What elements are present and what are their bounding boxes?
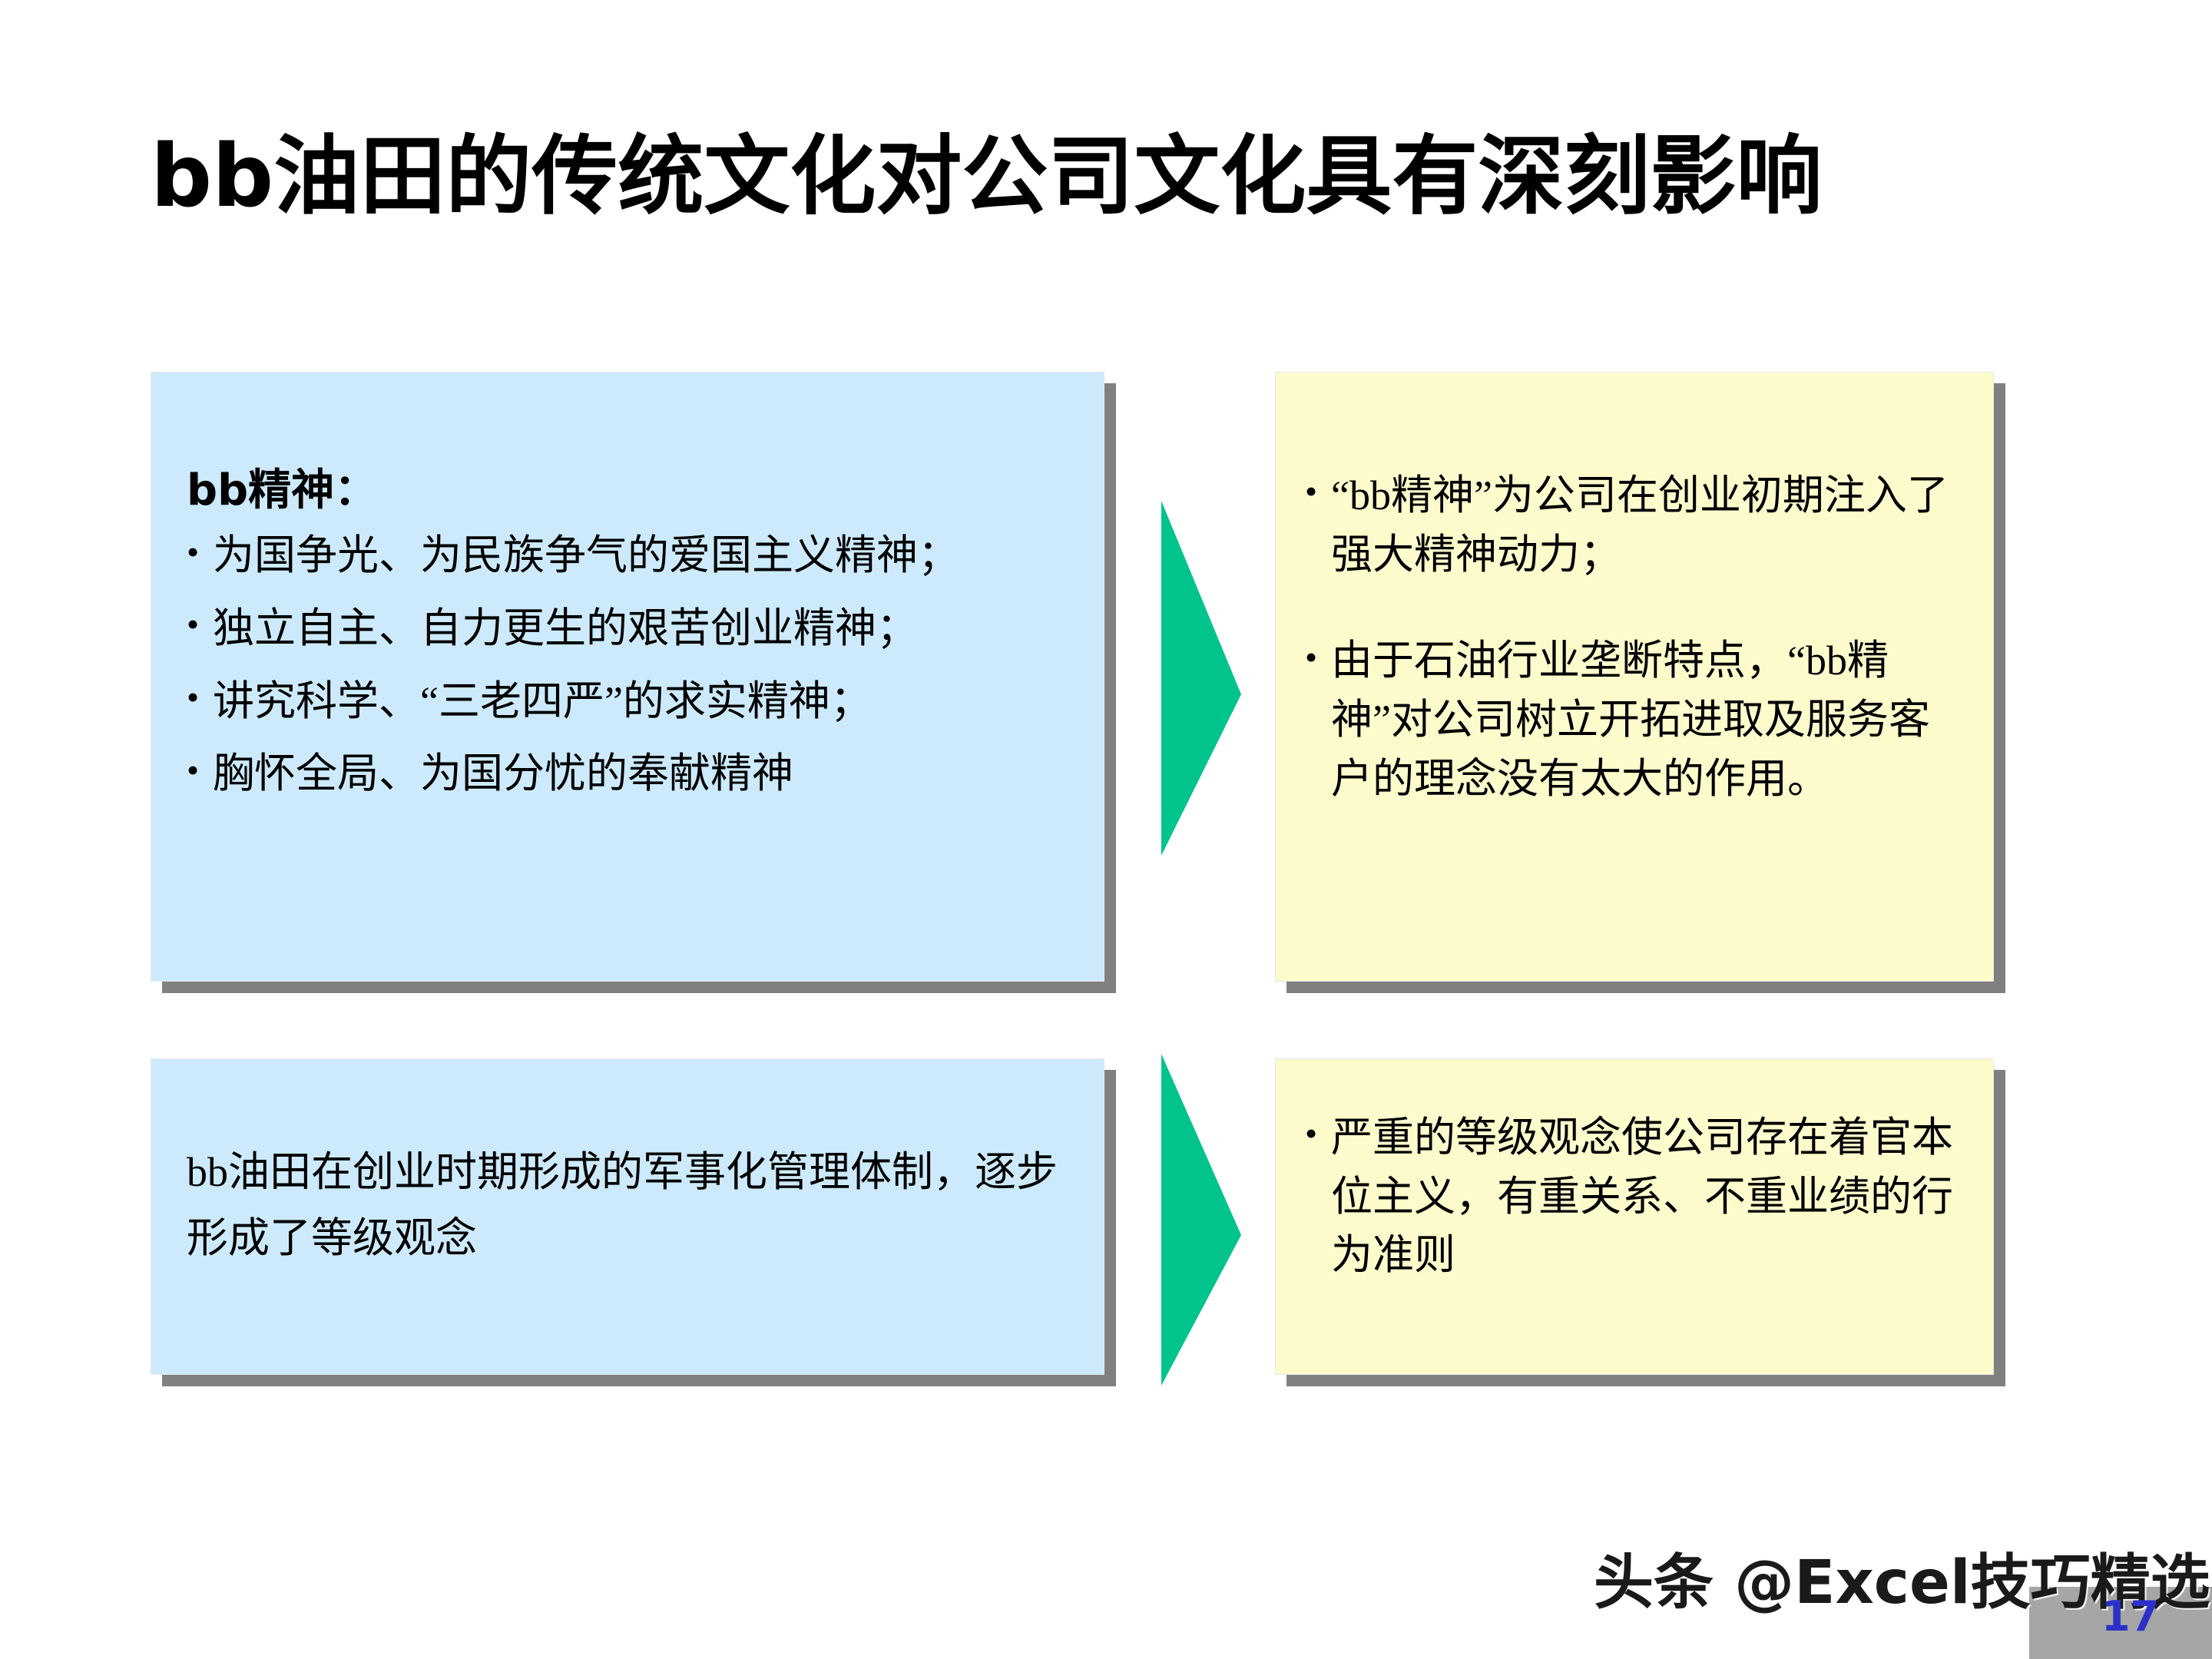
list-item: 为国争光、为民族争气的爱国主义精神； — [187, 526, 1064, 585]
spirit-box-heading: bb精神： — [187, 466, 1064, 515]
hierarchy-paragraph: bb油田在创业时期形成的军事化管理体制，逐步形成了等级观念 — [187, 1139, 1064, 1272]
arrow-right-bottom-icon — [1158, 1054, 1241, 1386]
list-item: 由于石油行业垄断特点，“bb精神”对公司树立开拓进取及服务客户的理念没有太大的作… — [1305, 631, 1965, 808]
hierarchy-effect-box: 严重的等级观念使公司存在着官本位主义，有重关系、不重业绩的行为准则 — [1275, 1058, 1994, 1375]
hierarchy-effect-box-content: 严重的等级观念使公司存在着官本位主义，有重关系、不重业绩的行为准则 — [1276, 1059, 1993, 1374]
spirit-effect-bullet-list: “bb精神”为公司在创业初期注入了强大精神动力； 由于石油行业垄断特点，“bb精… — [1305, 466, 1965, 808]
spirit-box: bb精神： 为国争光、为民族争气的爱国主义精神； 独立自主、自力更生的艰苦创业精… — [151, 372, 1104, 982]
spirit-effect-box: “bb精神”为公司在创业初期注入了强大精神动力； 由于石油行业垄断特点，“bb精… — [1275, 372, 1994, 982]
hierarchy-box: bb油田在创业时期形成的军事化管理体制，逐步形成了等级观念 — [151, 1058, 1104, 1375]
list-item: 严重的等级观念使公司存在着官本位主义，有重关系、不重业绩的行为准则 — [1305, 1108, 1970, 1285]
list-item: “bb精神”为公司在创业初期注入了强大精神动力； — [1305, 466, 1965, 584]
hierarchy-box-content: bb油田在创业时期形成的军事化管理体制，逐步形成了等级观念 — [151, 1059, 1104, 1374]
page-title: bb油田的传统文化对公司文化具有深刻影响 — [151, 129, 2117, 225]
spirit-effect-box-content: “bb精神”为公司在创业初期注入了强大精神动力； 由于石油行业垄断特点，“bb精… — [1276, 373, 1993, 981]
list-item: 讲究科学、“三老四严”的求实精神； — [187, 672, 1064, 731]
page-number: 17 — [2101, 1596, 2194, 1637]
spirit-box-content: bb精神： 为国争光、为民族争气的爱国主义精神； 独立自主、自力更生的艰苦创业精… — [151, 373, 1104, 981]
list-item: 独立自主、自力更生的艰苦创业精神； — [187, 599, 1064, 658]
arrow-right-top-icon — [1158, 501, 1241, 856]
list-item: 胸怀全局、为国分忧的奉献精神 — [187, 744, 1064, 803]
spirit-bullet-list: 为国争光、为民族争气的爱国主义精神； 独立自主、自力更生的艰苦创业精神； 讲究科… — [187, 526, 1064, 803]
hierarchy-effect-bullet-list: 严重的等级观念使公司存在着官本位主义，有重关系、不重业绩的行为准则 — [1305, 1108, 1970, 1285]
